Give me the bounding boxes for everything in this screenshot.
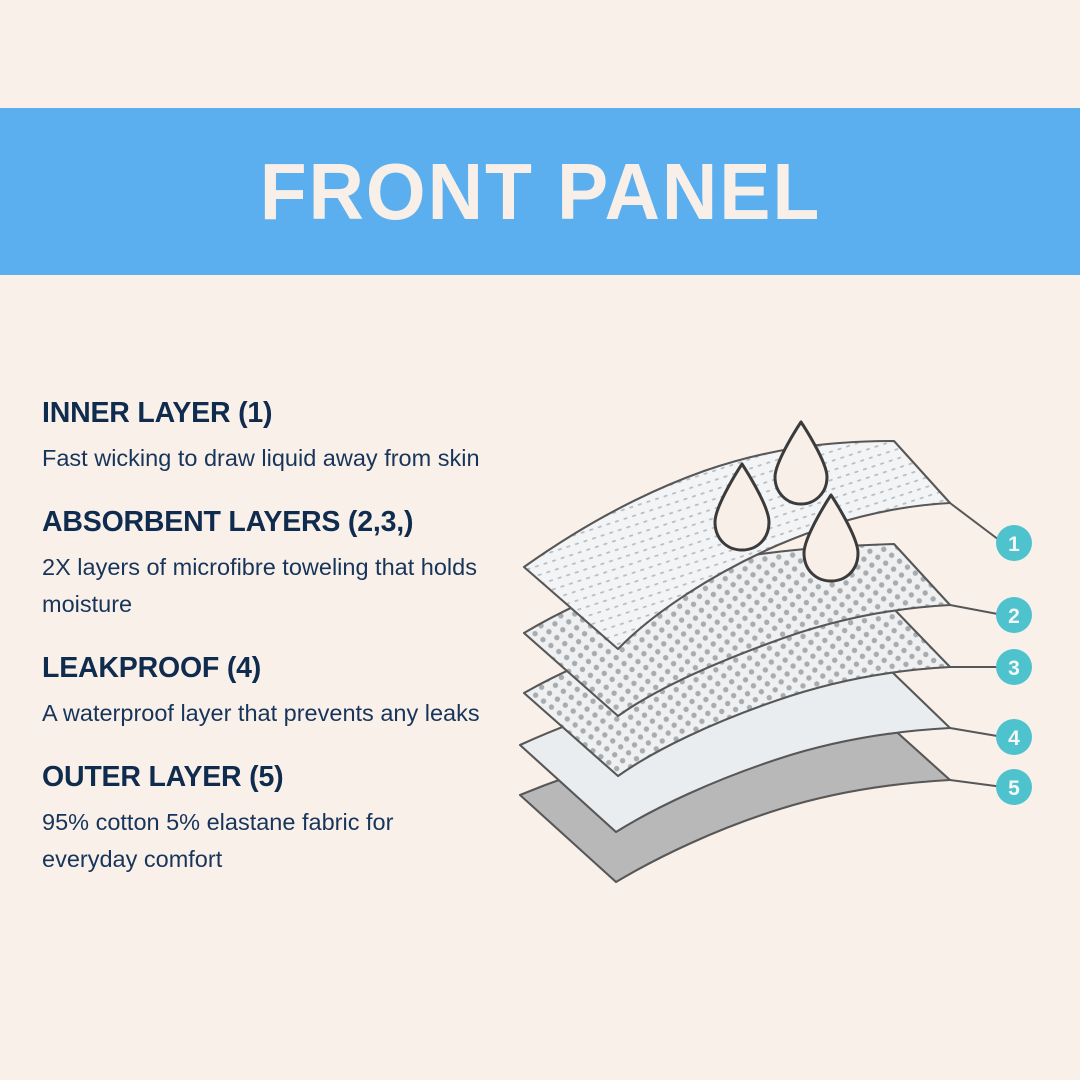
layer-heading-absorbent: ABSORBENT LAYERS (2,3,) (42, 507, 512, 539)
layer-block-leakproof: LEAKPROOF (4) A waterproof layer that pr… (42, 653, 512, 732)
layer-description-leakproof: A waterproof layer that prevents any lea… (42, 695, 492, 732)
layer-badge-1[interactable]: 1 (996, 525, 1032, 561)
layers-diagram-svg: 1 2 3 4 5 (498, 395, 1068, 935)
layer-description-inner: Fast wicking to draw liquid away from sk… (42, 440, 492, 477)
leader-line-2 (950, 605, 1003, 615)
layer-block-outer: OUTER LAYER (5) 95% cotton 5% elastane f… (42, 762, 512, 878)
leader-line-1 (950, 503, 1003, 543)
header-banner: FRONT PANEL (0, 108, 1080, 275)
fabric-layers-illustration: 1 2 3 4 5 (498, 395, 1068, 935)
leader-line-4 (950, 728, 1003, 737)
page-title: FRONT PANEL (259, 152, 821, 232)
layer-heading-outer: OUTER LAYER (5) (42, 762, 512, 794)
layer-block-inner: INNER LAYER (1) Fast wicking to draw liq… (42, 398, 512, 477)
leader-line-5 (950, 780, 1003, 787)
layer-badge-3-label: 3 (1008, 657, 1020, 680)
layer-badge-3[interactable]: 3 (996, 649, 1032, 685)
layer-badge-4[interactable]: 4 (996, 719, 1032, 755)
layer-heading-leakproof: LEAKPROOF (4) (42, 653, 512, 685)
layer-badge-2-label: 2 (1008, 605, 1020, 628)
layer-heading-inner: INNER LAYER (1) (42, 398, 512, 430)
layer-description-list: INNER LAYER (1) Fast wicking to draw liq… (42, 398, 512, 878)
infographic-page: FRONT PANEL INNER LAYER (1) Fast wicking… (0, 0, 1080, 1080)
layer-description-absorbent: 2X layers of microfibre toweling that ho… (42, 549, 492, 623)
layer-badge-5-label: 5 (1008, 777, 1020, 800)
layer-badge-2[interactable]: 2 (996, 597, 1032, 633)
layer-description-outer: 95% cotton 5% elastane fabric for everyd… (42, 804, 492, 878)
layer-badge-1-label: 1 (1008, 533, 1020, 556)
layer-block-absorbent: ABSORBENT LAYERS (2,3,) 2X layers of mic… (42, 507, 512, 623)
layer-badge-4-label: 4 (1008, 727, 1020, 750)
water-droplet-icon-top (775, 422, 827, 504)
layer-badge-5[interactable]: 5 (996, 769, 1032, 805)
